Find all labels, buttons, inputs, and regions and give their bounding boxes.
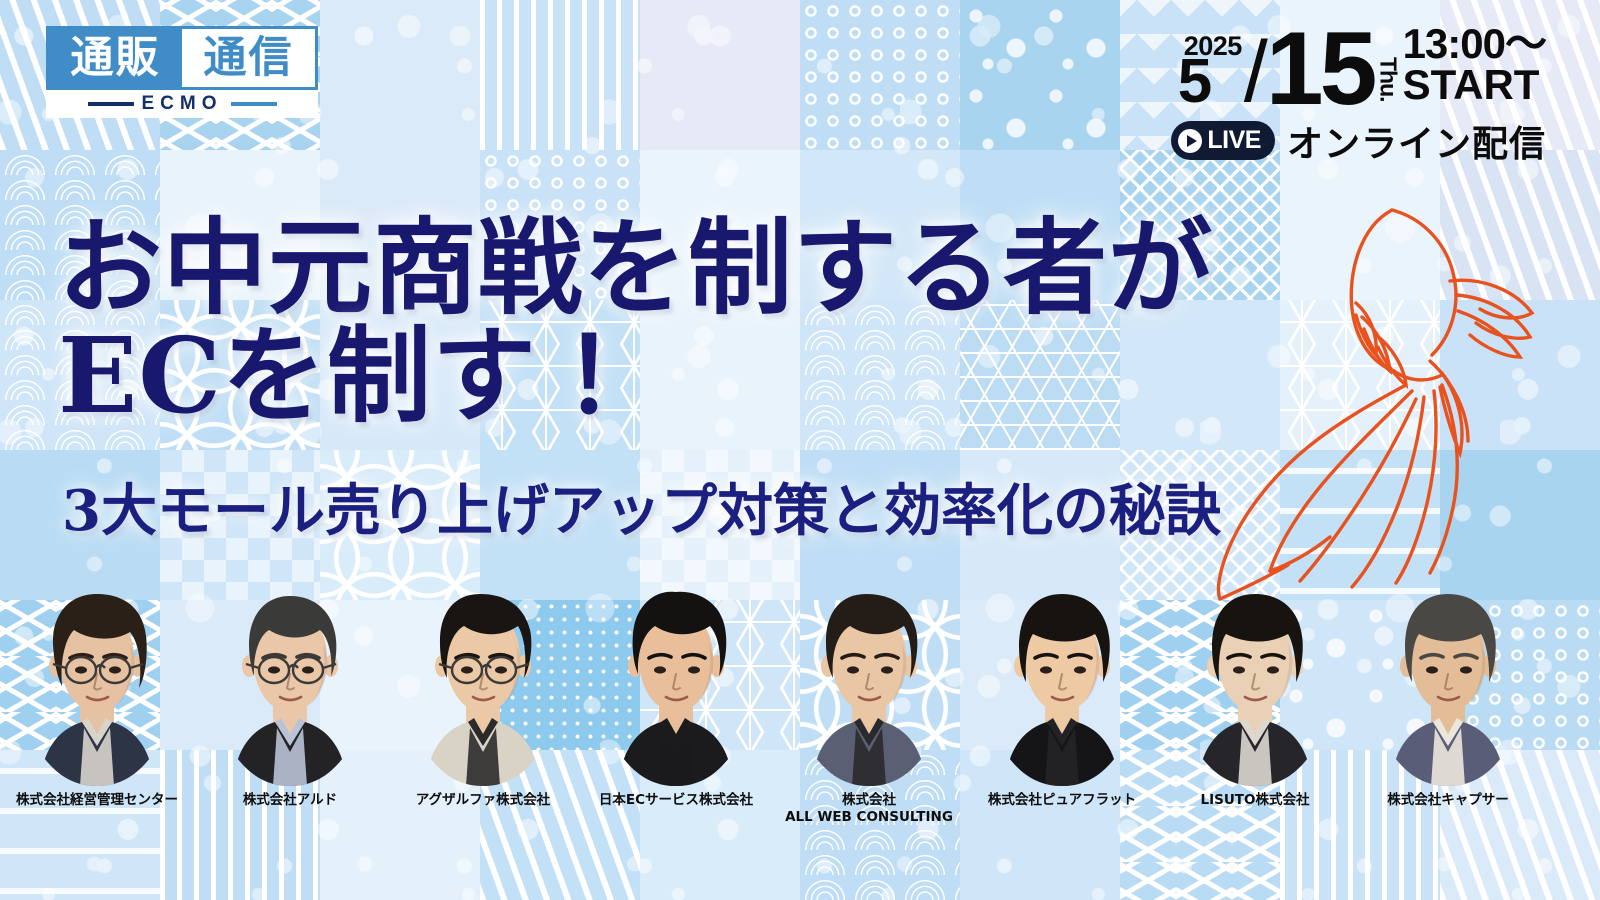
background-tile xyxy=(480,0,640,150)
background-tile xyxy=(960,0,1120,150)
speaker-card: 株式会社ピュアフラット xyxy=(977,578,1147,809)
speaker-card: 株式会社アルド xyxy=(205,578,375,809)
logo-wordmark: 通販 通信 xyxy=(46,26,318,90)
logo-text-ecmo: ECMO xyxy=(142,93,223,115)
brand-logo[interactable]: 通販 通信 ECMO xyxy=(46,26,318,118)
speaker-portrait xyxy=(798,578,940,786)
headline-block: お中元商戦を制する者が ECを制す！ xyxy=(58,215,1288,429)
speaker-company-name: 株式会社キャプサー xyxy=(1363,792,1533,809)
background-tile xyxy=(1280,300,1440,450)
event-month: 5 xyxy=(1178,57,1242,108)
event-start-label: START xyxy=(1403,64,1546,106)
logo-rule-right xyxy=(231,102,277,106)
month-year-group: 2025 5 xyxy=(1178,34,1242,108)
date-separator: / xyxy=(1244,39,1268,106)
event-date-line: 2025 5 / 15 Thu. 13:00〜 START xyxy=(1171,24,1546,108)
logo-rule-left xyxy=(88,102,134,106)
background-tile xyxy=(1440,150,1600,300)
headline-line-2: ECを制す！ xyxy=(58,323,1288,429)
live-delivery-row: LIVE オンライン配信 xyxy=(1171,115,1546,167)
speaker-company-name: 株式会社アルド xyxy=(205,792,375,809)
background-tile xyxy=(320,0,480,150)
speaker-portrait xyxy=(412,578,554,786)
background-tile xyxy=(640,0,800,150)
event-start-time: 13:00〜 xyxy=(1403,24,1546,64)
speaker-company-name: 日本ECサービス株式会社 xyxy=(591,792,761,809)
speaker-card: 株式会社キャプサー xyxy=(1363,578,1533,809)
speaker-card: 株式会社 ALL WEB CONSULTING xyxy=(784,578,954,826)
play-icon xyxy=(1178,129,1202,153)
headline-line-1: お中元商戦を制する者が xyxy=(58,215,1288,321)
event-weekday: Thu. xyxy=(1377,30,1398,102)
speaker-card: 株式会社経営管理センター xyxy=(12,578,182,809)
logo-text-tsuhan: 通販 xyxy=(49,29,182,87)
logo-text-tsushin: 通信 xyxy=(182,29,315,87)
speaker-company-name: アグザルファ株式会社 xyxy=(398,792,568,809)
speaker-company-name: LISUTO株式会社 xyxy=(1170,792,1340,809)
speaker-portrait xyxy=(26,578,168,786)
event-time-group: 13:00〜 START xyxy=(1403,24,1546,106)
speaker-portrait xyxy=(1377,578,1519,786)
speaker-card: LISUTO株式会社 xyxy=(1170,578,1340,809)
speaker-card: アグザルファ株式会社 xyxy=(398,578,568,809)
speaker-company-name: 株式会社経営管理センター xyxy=(12,792,182,809)
event-datetime-block: 2025 5 / 15 Thu. 13:00〜 START LIVE オンライン… xyxy=(1171,24,1546,167)
background-tile xyxy=(800,0,960,150)
speaker-card: 日本ECサービス株式会社 xyxy=(591,578,761,809)
background-tile xyxy=(1280,150,1440,300)
speaker-portrait xyxy=(991,578,1133,786)
speaker-portrait xyxy=(605,578,747,786)
speaker-company-name: 株式会社ピュアフラット xyxy=(977,792,1147,809)
event-day: 15 xyxy=(1266,31,1374,108)
live-badge-label: LIVE xyxy=(1207,126,1261,155)
background-tile xyxy=(1440,300,1600,450)
live-badge: LIVE xyxy=(1171,121,1275,160)
speaker-portrait xyxy=(1184,578,1326,786)
online-delivery-label: オンライン配信 xyxy=(1287,115,1546,167)
webinar-banner: 通販 通信 ECMO 2025 5 / 15 Thu. 13:00〜 START xyxy=(0,0,1600,900)
speaker-list: 株式会社経営管理センター株式会社アルドアグザルファ株式会社日本ECサービス株式会… xyxy=(0,578,1600,878)
speaker-portrait xyxy=(219,578,361,786)
logo-subtitle-bar: ECMO xyxy=(46,90,318,118)
speaker-company-name: 株式会社 ALL WEB CONSULTING xyxy=(784,792,954,826)
headline-subtitle: 3大モール売り上げアップ対策と効率化の秘訣 xyxy=(62,466,1221,547)
